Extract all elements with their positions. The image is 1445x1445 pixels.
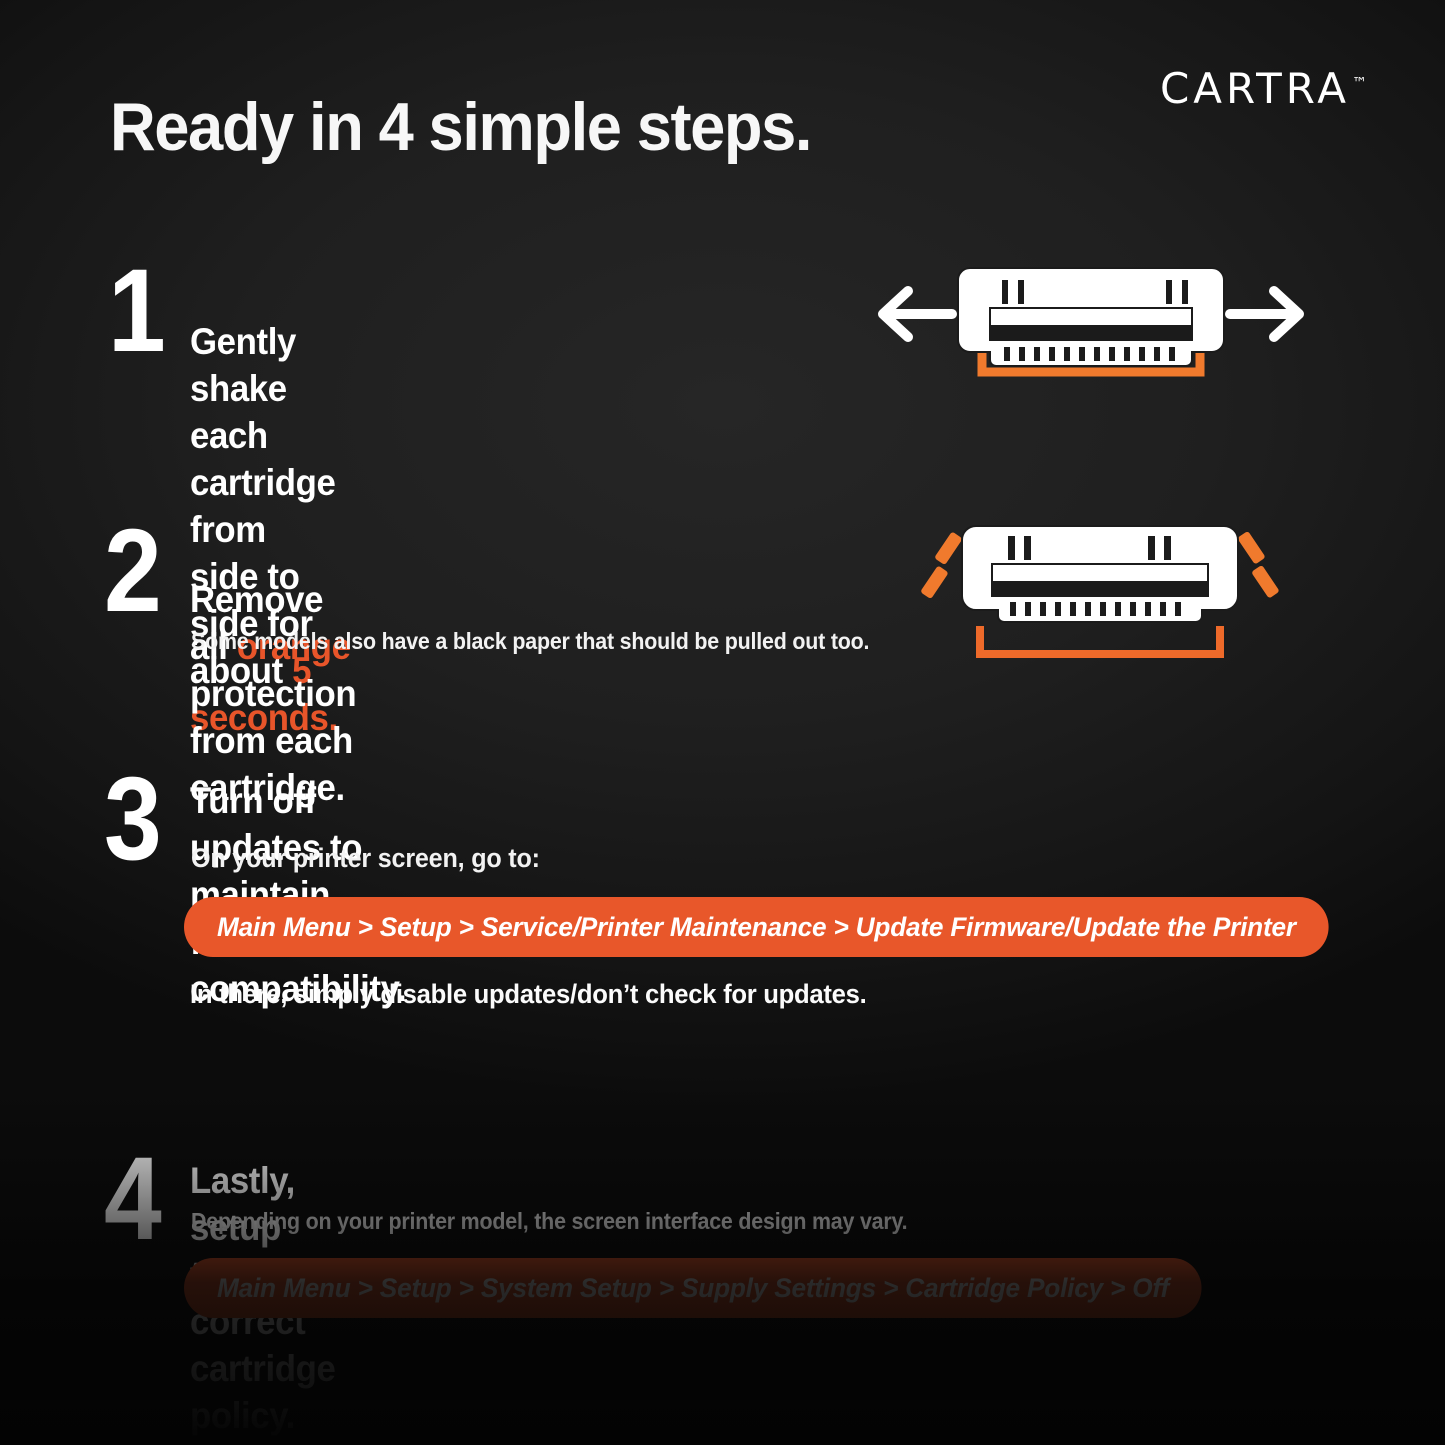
orange-strip-detached (980, 630, 1220, 654)
step-1-number: 1 (108, 262, 163, 361)
arrow-right-icon (1230, 291, 1299, 337)
step-2-number: 2 (104, 522, 159, 621)
orange-tab-detached-right (1237, 531, 1280, 599)
page-title: Ready in 4 simple steps. (110, 88, 811, 166)
step-2-subtext: Some models also have a black paper that… (191, 628, 869, 655)
step-3-note: In there, simply disable updates/don’t c… (190, 979, 866, 1010)
step-2-heading: Remove all orange protection from each c… (190, 530, 356, 812)
cartridge-shake-icon (866, 246, 1316, 386)
step-3-menu-path-pill[interactable]: Main Menu > Setup > Service/Printer Main… (184, 897, 1329, 957)
brand-name: CARTRA (1160, 64, 1350, 113)
step-3-number: 3 (104, 770, 159, 869)
step-3-heading: Turn off updates to maintain future comp… (190, 778, 406, 1013)
cartridge-remove-protection-icon (920, 512, 1280, 672)
cartridge-body (962, 526, 1238, 622)
step-4-menu-path-pill[interactable]: Main Menu > Setup > System Setup > Suppl… (184, 1258, 1202, 1318)
brand-logo: CARTRA™ (1160, 68, 1367, 110)
cartridge-body (958, 268, 1224, 366)
arrow-left-icon (883, 291, 952, 337)
infographic-page: CARTRA™ Ready in 4 simple steps. 1 Gentl… (0, 0, 1445, 1445)
orange-tab-detached-left (920, 531, 963, 599)
step-4-number: 4 (104, 1150, 159, 1249)
step-4-subtext: Depending on your printer model, the scr… (191, 1208, 907, 1235)
trademark-symbol: ™ (1352, 74, 1367, 92)
step-3-subtext: On your printer screen, go to: (191, 843, 540, 874)
